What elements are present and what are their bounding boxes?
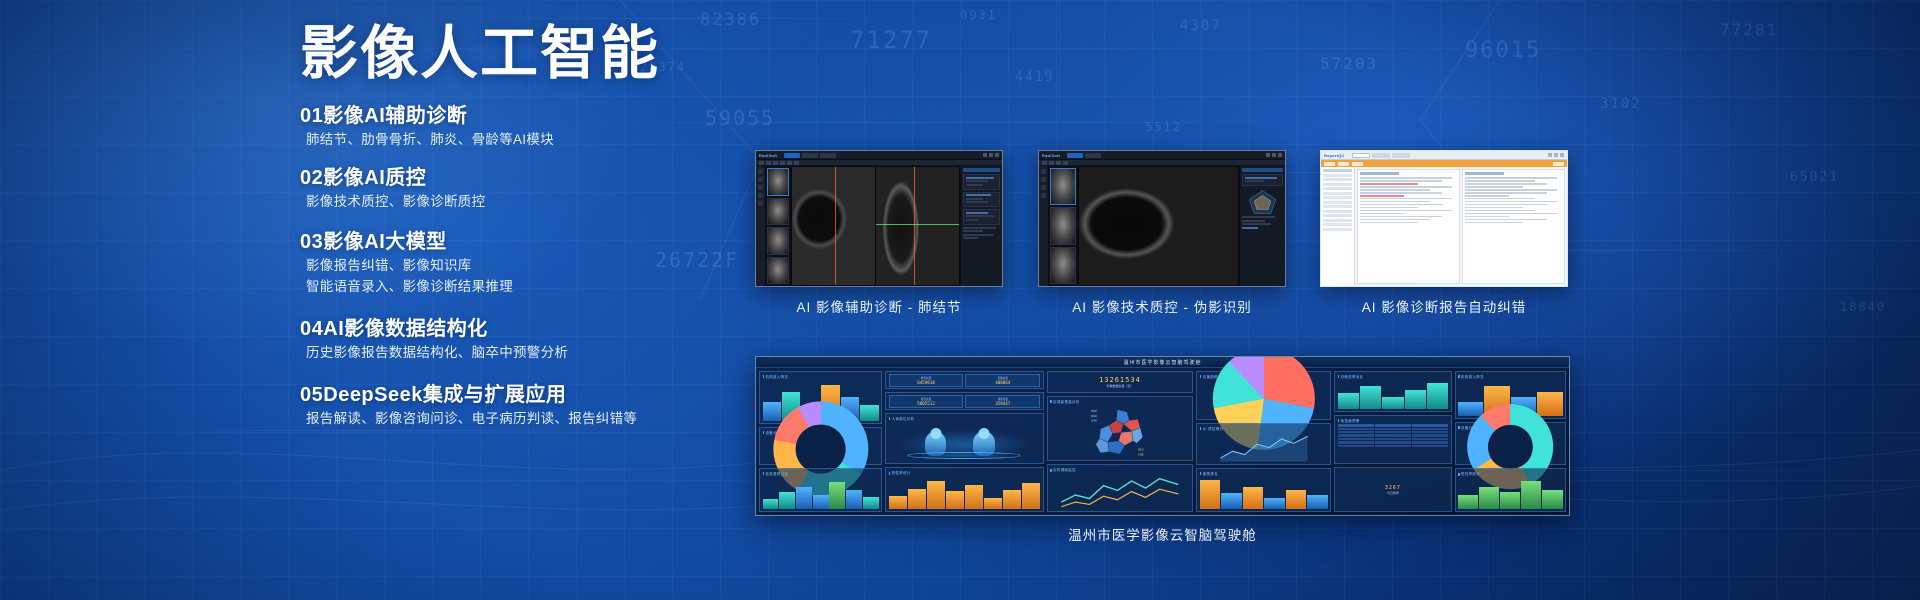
ct-coronal-image [876,167,959,285]
worklist-row[interactable] [1323,201,1352,204]
series-thumbnail[interactable] [767,168,789,196]
qc-worklist[interactable] [1048,166,1078,286]
qc-radar-chart [1242,188,1283,216]
worklist-row[interactable] [1323,223,1352,226]
feature-item-01: 01影像AI辅助诊断 肺结节、肋骨骨折、肺炎、骨龄等AI模块 [300,103,700,151]
save-icon[interactable] [1338,162,1349,166]
worklist-row[interactable] [1323,228,1352,231]
report-corrected-document[interactable] [1462,169,1565,284]
panel-chart [1458,478,1562,509]
report-worklist[interactable] [1321,167,1355,286]
dashboard-column-4: 月度趋势 AI 质控得分 医院排名 [1196,371,1331,512]
app-window: RadiSoft [756,151,1002,286]
feature-list: 01影像AI辅助诊断 肺结节、肋骨骨折、肺炎、骨龄等AI模块 02影像AI质控 … [300,103,700,430]
panel-title: 区域影像量分布 [1050,399,1190,404]
screenshot-thumbnail-ai-qc[interactable]: RadiSoft [1038,150,1286,287]
panel-chart [1200,477,1328,509]
worklist-row[interactable] [1323,205,1352,208]
kpi-card: 调阅总量 358447 [965,395,1040,408]
panel-title: 医院排名 [1200,471,1328,476]
worklist-thumbnail[interactable] [1050,207,1076,244]
maximize-icon[interactable] [1272,153,1276,157]
finding-card[interactable] [963,209,1000,225]
kpi-value: 408864 [966,380,1039,385]
zoom-tool-icon[interactable] [1049,161,1054,165]
image-viewport-group[interactable] [1078,166,1239,286]
screenshot-thumbnail-ai-diagnosis[interactable]: RadiSoft [755,150,1003,287]
panel-ai-qc-score[interactable]: AI 质控得分 [1196,423,1331,465]
dashboard-column-1: 机构接入情况 设备分布统计 [759,371,882,512]
viewer-body [756,166,1002,286]
worklist-row[interactable] [1323,196,1352,199]
worklist-thumbnail[interactable] [1050,168,1076,205]
panel-title: 检查类别占比 [763,471,879,476]
tab-strip[interactable] [784,153,836,158]
dashboard-screenshot[interactable]: 温州市医学影像云智脑驾驶舱 机构接入情况 [755,356,1570,516]
panel-monthly-trend[interactable]: 月度趋势 [1196,371,1331,420]
series-thumbnail[interactable] [767,257,789,285]
screenshot-thumbnail-report-correction[interactable]: ReportQC [1320,150,1568,287]
feature-heading: 03影像AI大模型 [300,229,700,256]
worklist-row[interactable] [1323,183,1352,186]
ct-axial-image [792,167,875,285]
maximize-icon[interactable] [1554,153,1558,157]
panel-exam-category[interactable]: 检查类别占比 [759,468,882,512]
left-rail[interactable] [756,166,765,286]
panel-title: 机构接入情况 [763,374,879,379]
dashboard-column-6: 机构接入情况 设备分布统计 [1455,371,1566,512]
panel-positive-rate[interactable]: 阳性率统计 [885,467,1043,512]
figure-head [979,428,990,439]
panel-hospital-ranking[interactable]: 医院排名 [1196,468,1331,512]
panel-title: AI 质控得分 [1200,426,1328,431]
screenshot-caption-2: AI 影像技术质控 - 伪影识别 [1038,296,1286,316]
window-controls[interactable] [1548,153,1564,157]
series-icon[interactable] [758,169,763,174]
feature-subtitle: 智能语音录入、影像诊断结果推理 [300,277,700,298]
report-original-document[interactable] [1357,169,1460,284]
print-icon[interactable] [1553,162,1564,166]
worklist-thumbnail[interactable] [1050,247,1076,284]
line-chart-svg [1200,432,1328,462]
artifact-detect-icon[interactable] [1056,161,1061,165]
image-viewport-group[interactable] [791,166,960,286]
measure-tool-icon[interactable] [780,161,785,165]
series-thumbnail-list[interactable] [765,166,791,286]
series-thumbnail[interactable] [767,198,789,226]
screenshot-caption-1: AI 影像辅助诊断 - 肺结节 [755,296,1003,316]
panel-side-donut[interactable]: 设备分布统计 [1455,422,1566,466]
radar-svg [1242,188,1283,216]
screenshot-caption-3: AI 影像诊断报告自动纠错 [1320,296,1568,316]
region-map-svg: 鹿城区 瓯海区 龙湾区 瑞安市 乐清市 [1050,406,1190,459]
settings-icon[interactable] [1041,193,1046,198]
feature-subtitle: 影像技术质控、影像诊断质控 [300,192,700,213]
tab-item[interactable] [1392,153,1410,158]
app-brand-label: RadiSoft [1042,153,1060,158]
feature-subtitle: 影像报告纠错、影像知识库 [300,256,700,277]
secondary-counter-label: 今日新增 [1387,491,1399,495]
tab-item[interactable] [784,153,800,158]
panel-chart [1458,431,1562,462]
panel-secondary-counter[interactable]: 3267 今日新增 [1334,467,1451,512]
tab-strip[interactable] [1067,153,1101,158]
feature-item-05: 05DeepSeek集成与扩展应用 报告解读、影像咨询问诊、电子病历判读、报告纠… [300,382,700,430]
window-titlebar: RadiSoft [1039,151,1285,160]
base-ring [908,452,1020,458]
feature-item-02: 02影像AI质控 影像技术质控、影像诊断质控 [300,165,700,213]
worklist-row[interactable] [1323,178,1352,181]
human-glow [889,423,1040,462]
tab-item[interactable] [1372,153,1390,158]
finding-card[interactable] [963,192,1000,208]
tab-item[interactable] [1067,153,1083,158]
dashboard-header-title: 温州市医学影像云智脑驾驶舱 [756,357,1569,368]
pan-tool-icon[interactable] [773,161,778,165]
panel-chart [1200,432,1328,462]
viewer-body [1039,166,1285,286]
ct-chest-image [1079,167,1238,285]
dashboard-grid: 机构接入情况 设备分布统计 [756,368,1569,515]
panel-header [963,168,1000,172]
panel-device-distribution[interactable]: 设备分布统计 [759,427,882,465]
kpi-card: 检查总量 6459818 [889,374,964,387]
worklist-row[interactable] [1323,169,1352,172]
human-model-visual [889,423,1040,462]
line-chart-svg [1050,474,1190,509]
minimize-icon[interactable] [1266,153,1270,157]
panel-kpi-summary[interactable]: 检查总量 6459818 影像总量 408864 [885,371,1043,389]
map-visual: 鹿城区 瓯海区 龙湾区 瑞安市 乐清市 [1050,406,1190,459]
panel-title: 危急值预警 [1338,418,1448,423]
panel-realtime-access[interactable]: 实时调阅监控 [1047,464,1194,512]
dashboard-caption: 温州市医学影像云智脑驾驶舱 [755,524,1570,544]
app-window: ReportQC [1321,151,1567,286]
kpi-value: 5805512 [890,401,963,406]
panel-title: 人体部位分析 [889,416,1040,421]
viewport-axial[interactable] [792,167,875,285]
zoom-tool-icon[interactable] [766,161,771,165]
left-rail[interactable] [1039,166,1048,286]
maximize-icon[interactable] [989,153,993,157]
panel-chart [1200,381,1328,417]
panel-table[interactable] [1338,424,1448,461]
panel-chart [1338,381,1448,409]
map-legend-label: 乐清市 [1138,452,1144,456]
feature-subtitle: 历史影像报告数据结构化、脑卒中预警分析 [300,343,700,364]
report-editor-area [1355,167,1567,286]
figure-head [930,428,941,439]
minimize-icon[interactable] [1548,153,1552,157]
dashboard-column-2: 检查总量 6459818 影像总量 408864 报告总量 5805512 [885,371,1043,512]
left-content-column: 影像人工智能 01影像AI辅助诊断 肺结节、肋骨骨折、肺炎、骨龄等AI模块 02… [300,24,700,439]
panel-kpi-summary-2[interactable]: 报告总量 5805512 调阅总量 358447 [885,392,1043,410]
dashboard-column-5: 诊断效率对比 危急值预警 [1334,371,1451,512]
counter-visual: 3267 今日新增 [1338,470,1448,509]
worklist-row[interactable] [1323,192,1352,195]
history-icon[interactable] [1041,185,1046,190]
tab-item[interactable] [1085,153,1101,158]
map-legend-label: 瑞安市 [1138,447,1144,451]
worklist-row[interactable] [1323,219,1352,222]
layout-tool-icon[interactable] [787,161,792,165]
panel-chart [1050,474,1190,509]
report-body [1321,167,1567,286]
panel-side-bar-2[interactable]: 阳性率统计 [1455,468,1566,512]
worklist-row[interactable] [1323,187,1352,190]
worklist-row[interactable] [1323,214,1352,217]
report-toolbar[interactable] [1321,160,1567,167]
ai-detect-icon[interactable] [794,161,799,165]
feature-item-04: 04AI影像数据结构化 历史影像报告数据结构化、脑卒中预警分析 [300,316,700,364]
tab-item[interactable] [802,153,818,158]
close-icon[interactable] [995,153,999,157]
document-title-bar [1465,172,1504,175]
app-brand-label: ReportQC [1324,153,1345,158]
panel-title: 诊断效率对比 [1338,374,1448,379]
app-window: RadiSoft [1039,151,1285,286]
panel-headline-counter[interactable]: 13261534 影像数据总量（张） [1047,371,1194,393]
feature-heading: 04AI影像数据结构化 [300,316,700,343]
feature-subtitle: 报告解读、影像咨询问诊、电子病历判读、报告纠错等 [300,409,700,430]
dashboard-column-3: 13261534 影像数据总量（张） 区域影像量分布 [1047,371,1194,512]
feature-subtitle: 肺结节、肋骨骨折、肺炎、骨龄等AI模块 [300,130,700,151]
viewport-coronal[interactable] [876,167,959,285]
qc-score-card[interactable] [1242,174,1283,186]
map-legend-label: 瓯海区 [1091,413,1097,417]
panel-chart [889,477,1040,509]
spellcheck-icon[interactable] [1352,162,1363,166]
panel-title: 实时调阅监控 [1050,467,1190,472]
kpi-card: 报告总量 5805512 [889,395,964,408]
panel-human-body-model[interactable]: 人体部位分析 [885,413,1043,464]
worklist-icon[interactable] [1041,169,1046,174]
export-icon[interactable] [758,193,763,198]
tab-item[interactable] [1352,153,1370,158]
minimize-icon[interactable] [983,153,987,157]
window-controls[interactable] [983,153,999,157]
window-level-icon[interactable] [1042,161,1047,165]
panel-header [1242,168,1283,172]
panel-title: 阳性率统计 [1458,471,1562,476]
panel-chart [763,477,879,509]
kpi-card: 影像总量 408864 [965,374,1040,387]
kpi-value: 6459818 [890,380,963,385]
worklist-row[interactable] [1323,174,1352,177]
new-report-icon[interactable] [1324,162,1335,166]
tab-item[interactable] [820,153,836,158]
close-icon[interactable] [1278,153,1282,157]
panel-chart [763,436,879,461]
window-titlebar: RadiSoft [756,151,1002,160]
feature-heading: 02影像AI质控 [300,165,700,192]
panel-title: 阳性率统计 [889,470,1040,475]
close-icon[interactable] [1560,153,1564,157]
kpi-value: 358447 [966,401,1039,406]
kpi-row: 报告总量 5805512 调阅总量 358447 [889,395,1040,407]
panel-diagnosis-efficiency[interactable]: 诊断效率对比 [1334,371,1451,412]
panel-region-map[interactable]: 区域影像量分布 [1047,396,1194,461]
dashboard-root: 温州市医学影像云智脑驾驶舱 机构接入情况 [756,357,1569,515]
ai-findings-panel[interactable] [960,166,1002,286]
report-icon[interactable] [1063,161,1068,165]
panel-critical-alerts[interactable]: 危急值预警 [1334,415,1451,464]
window-level-icon[interactable] [759,161,764,165]
settings-icon[interactable] [758,201,763,206]
panel-title: 机构接入情况 [1458,374,1562,379]
feature-item-03: 03影像AI大模型 影像报告纠错、影像知识库 智能语音录入、影像诊断结果推理 [300,229,700,298]
qc-rule-icon[interactable] [1041,177,1046,182]
headline-counter-label: 影像数据总量（张） [1106,384,1133,388]
document-title-bar [1360,172,1399,175]
viewport-chest-ct[interactable] [1079,167,1238,285]
window-controls[interactable] [1266,153,1282,157]
map-legend-label: 鹿城区 [1091,409,1097,413]
window-titlebar: ReportQC [1321,151,1567,160]
worklist-row[interactable] [1323,210,1352,213]
map-legend-label: 龙湾区 [1091,418,1097,422]
filter-icon[interactable] [758,185,763,190]
headline-counter-value: 13261534 [1099,376,1141,384]
qc-result-panel[interactable] [1239,166,1285,286]
app-brand-label: RadiSoft [759,153,777,158]
annotation-icon[interactable] [758,177,763,182]
kpi-row: 检查总量 6459818 影像总量 408864 [889,374,1040,386]
series-thumbnail[interactable] [767,227,789,255]
feature-heading: 01影像AI辅助诊断 [300,103,700,130]
feature-heading: 05DeepSeek集成与扩展应用 [300,382,700,409]
page-title: 影像人工智能 [300,24,700,85]
tab-strip[interactable] [1352,153,1410,158]
finding-card[interactable] [963,174,1000,190]
